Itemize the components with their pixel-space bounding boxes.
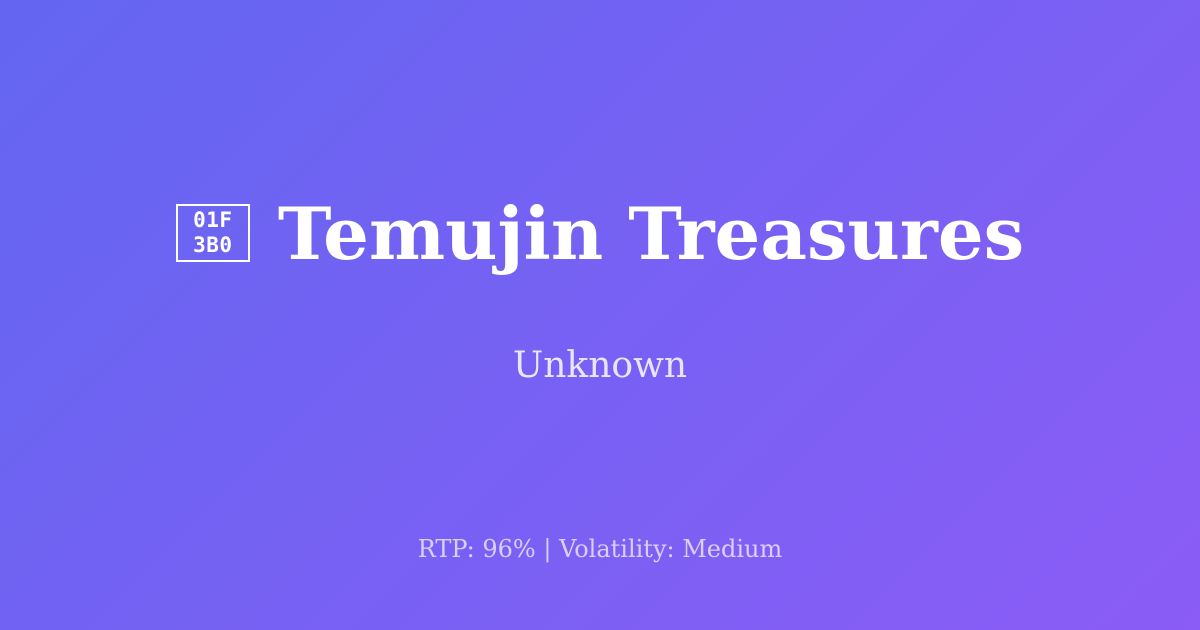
game-provider-subtitle: Unknown	[513, 345, 687, 386]
game-preview-card: 01F 3B0 Temujin Treasures Unknown RTP: 9…	[0, 0, 1200, 630]
slot-machine-icon: 01F 3B0	[176, 204, 250, 262]
page-title: Temujin Treasures	[278, 196, 1024, 272]
title-row: 01F 3B0 Temujin Treasures	[136, 196, 1064, 272]
slot-machine-icon-hex-top: 01F	[193, 208, 232, 233]
slot-machine-icon-hex-bottom: 3B0	[193, 233, 232, 258]
game-stats-line: RTP: 96% | Volatility: Medium	[0, 535, 1200, 564]
